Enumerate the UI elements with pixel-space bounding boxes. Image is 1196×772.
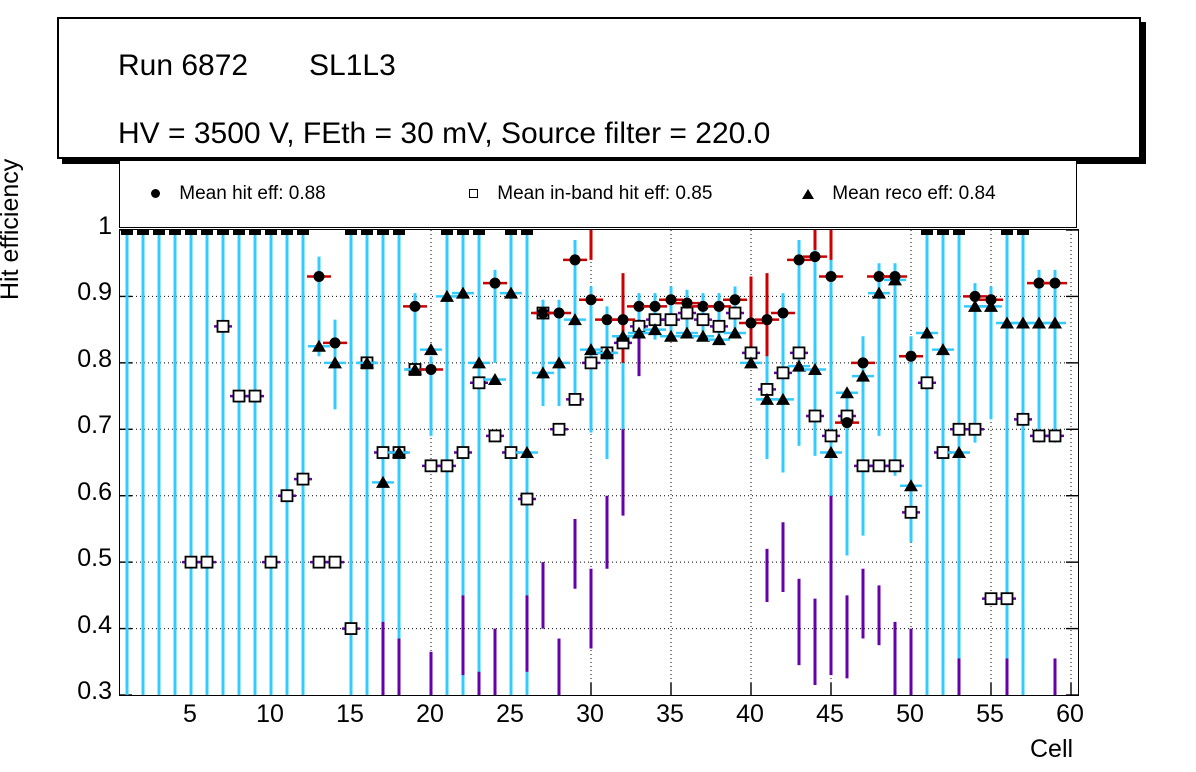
data-point-hit [217, 230, 229, 235]
data-point-hit [121, 230, 133, 235]
data-point-inband [858, 460, 869, 471]
data-point-inband [586, 357, 597, 368]
data-point-hit [265, 230, 277, 235]
data-point-hit [490, 278, 501, 289]
data-point-hit [921, 230, 933, 235]
data-point-inband [986, 593, 997, 604]
data-point-hit [890, 271, 901, 282]
data-point-inband [810, 411, 821, 422]
data-point-hit [937, 230, 949, 235]
data-point-hit [441, 230, 453, 235]
data-point-hit [698, 301, 709, 312]
data-point-hit [602, 314, 613, 325]
data-point-inband [954, 424, 965, 435]
data-point-hit [714, 301, 725, 312]
data-point-hit [1034, 278, 1045, 289]
x-tick-label: 25 [496, 700, 524, 729]
y-tick-label: 0.9 [77, 278, 112, 307]
data-point-inband [554, 424, 565, 435]
x-tick-label: 40 [736, 700, 764, 729]
legend-box: Mean hit eff: 0.88 Mean in-band hit eff:… [119, 160, 1077, 228]
superlayer-label: SL1L3 [309, 49, 396, 83]
data-point-hit [393, 230, 405, 235]
data-point-inband [298, 474, 309, 485]
data-point-inband [906, 507, 917, 518]
data-point-inband [714, 321, 725, 332]
data-point-hit [521, 230, 533, 235]
data-point-inband [874, 460, 885, 471]
plot-area [120, 230, 1078, 695]
data-point-hit [377, 230, 389, 235]
data-point-hit [297, 230, 309, 235]
data-point-inband [570, 394, 581, 405]
data-point-hit [746, 318, 757, 329]
x-tick-label: 30 [576, 700, 604, 729]
x-tick-label: 35 [656, 700, 684, 729]
data-point-inband [234, 391, 245, 402]
data-point-inband [426, 460, 437, 471]
data-point-hit [169, 230, 181, 235]
data-point-inband [218, 321, 229, 332]
data-point-inband [890, 460, 901, 471]
data-point-hit [457, 230, 469, 235]
legend-entry-inband-eff: Mean in-band hit eff: 0.85 [460, 181, 712, 207]
data-point-hit [505, 230, 517, 235]
y-tick-label: 0.8 [77, 345, 112, 374]
x-tick-label: 5 [183, 700, 197, 729]
data-point-inband [1002, 593, 1013, 604]
legend-label-reco-eff: Mean reco eff: 0.84 [832, 183, 995, 204]
data-point-inband [922, 377, 933, 388]
legend-label-hit-eff: Mean hit eff: 0.88 [179, 183, 325, 204]
data-point-inband [314, 557, 325, 568]
series-hit-eff [121, 230, 1067, 428]
data-point-hit [618, 314, 629, 325]
data-point-hit [953, 230, 965, 235]
data-point-hit [538, 308, 549, 319]
data-point-inband [1034, 430, 1045, 441]
data-point-inband [682, 308, 693, 319]
data-point-hit [730, 294, 741, 305]
legend-entry-reco-eff: Mean reco eff: 0.84 [795, 181, 996, 207]
data-point-hit [153, 230, 165, 235]
data-point-hit [682, 298, 693, 309]
x-tick-label: 15 [336, 700, 364, 729]
data-point-inband [474, 377, 485, 388]
title-box: Run 6872 SL1L3 HV = 3500 V, FEth = 30 mV… [57, 17, 1141, 159]
x-tick-label: 55 [976, 700, 1004, 729]
y-tick-label: 0.4 [77, 611, 112, 640]
data-point-inband [794, 347, 805, 358]
data-point-hit [1001, 230, 1013, 235]
run-label: Run 6872 [118, 49, 248, 83]
settings-label: HV = 3500 V, FEth = 30 mV, Source filter… [118, 117, 770, 151]
data-point-hit [906, 351, 917, 362]
data-point-hit [634, 301, 645, 312]
data-point-hit [426, 364, 437, 375]
data-point-hit [666, 294, 677, 305]
data-point-inband [506, 447, 517, 458]
data-point-hit [330, 337, 341, 348]
data-point-hit [201, 230, 213, 235]
data-point-hit [185, 230, 197, 235]
y-tick-label: 0.6 [77, 478, 112, 507]
legend-label-inband-eff: Mean in-band hit eff: 0.85 [497, 183, 712, 204]
data-point-hit [1017, 230, 1029, 235]
data-point-hit [794, 254, 805, 265]
data-point-hit [1050, 278, 1061, 289]
data-point-hit [570, 254, 581, 265]
data-point-hit [361, 230, 373, 235]
data-point-hit [137, 230, 149, 235]
data-point-hit [874, 271, 885, 282]
legend-entry-hit-eff: Mean hit eff: 0.88 [142, 181, 326, 207]
data-point-hit [473, 230, 485, 235]
data-point-hit [233, 230, 245, 235]
plot-frame [119, 229, 1079, 696]
data-point-hit [858, 357, 869, 368]
y-tick-label: 1 [98, 212, 112, 241]
data-point-inband [330, 557, 341, 568]
data-point-inband [186, 557, 197, 568]
data-point-inband [666, 314, 677, 325]
data-point-inband [970, 424, 981, 435]
data-point-inband [698, 314, 709, 325]
data-point-hit [554, 308, 565, 319]
y-tick-label: 0.7 [77, 411, 112, 440]
data-point-hit [586, 294, 597, 305]
vertical-error-bars-purple [383, 320, 1055, 695]
x-tick-label: 60 [1056, 700, 1084, 729]
data-point-inband [778, 367, 789, 378]
data-point-hit [778, 308, 789, 319]
data-point-inband [1050, 430, 1061, 441]
x-tick-label: 20 [416, 700, 444, 729]
x-axis-tick-labels: 51015202530354045505560 [0, 700, 1196, 740]
data-point-inband [826, 430, 837, 441]
data-point-inband [266, 557, 277, 568]
y-axis-tick-labels: 10.90.80.70.60.50.40.3 [0, 0, 112, 772]
data-point-inband [282, 490, 293, 501]
data-point-hit [986, 294, 997, 305]
data-point-inband [346, 623, 357, 634]
data-point-hit [410, 301, 421, 312]
x-tick-label: 50 [896, 700, 924, 729]
filled-circle-icon [142, 181, 168, 207]
data-point-hit [345, 230, 357, 235]
filled-triangle-icon [795, 181, 821, 207]
data-point-hit [970, 291, 981, 302]
x-tick-label: 45 [816, 700, 844, 729]
data-point-inband [202, 557, 213, 568]
data-point-inband [1018, 414, 1029, 425]
x-tick-label: 10 [256, 700, 284, 729]
scatter-plot-canvas [120, 230, 1078, 695]
data-point-hit [281, 230, 293, 235]
data-point-hit [810, 251, 821, 262]
data-point-inband [378, 447, 389, 458]
data-point-inband [490, 430, 501, 441]
data-point-inband [250, 391, 261, 402]
data-point-hit [650, 301, 661, 312]
y-tick-label: 0.5 [77, 544, 112, 573]
data-point-hit [762, 314, 773, 325]
data-point-hit [842, 417, 853, 428]
data-point-hit [249, 230, 261, 235]
data-point-hit [826, 271, 837, 282]
data-point-inband [442, 460, 453, 471]
open-square-icon [460, 181, 486, 207]
data-point-inband [938, 447, 949, 458]
data-point-hit [314, 271, 325, 282]
data-point-inband [522, 494, 533, 505]
data-point-inband [730, 308, 741, 319]
data-point-inband [458, 447, 469, 458]
